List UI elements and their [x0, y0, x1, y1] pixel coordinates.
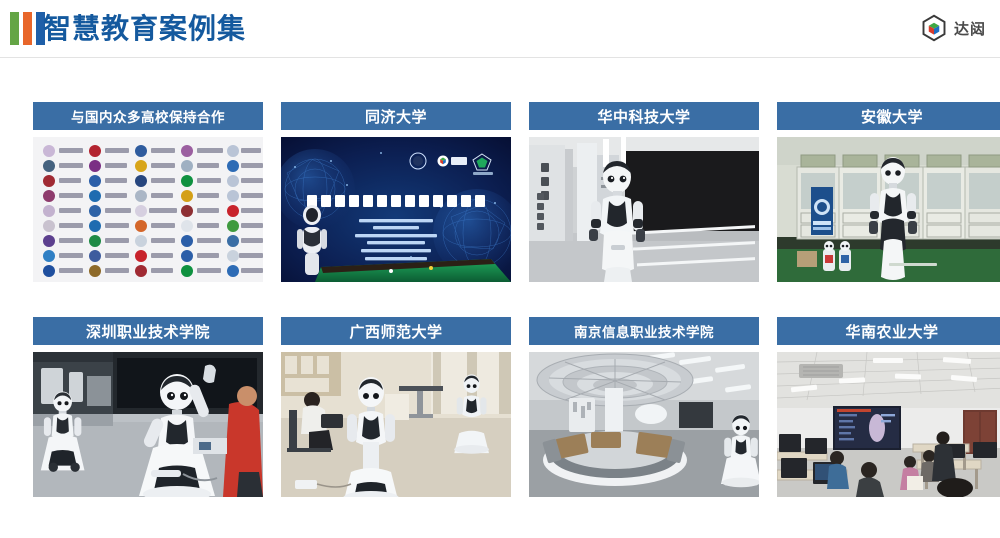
case-card-shenzhen-polytechnic[interactable]: 深圳职业技术学院: [33, 317, 263, 497]
case-card-south-china-agricultural-university[interactable]: 华南农业大学: [777, 317, 1000, 497]
circular-lobby-image: [529, 352, 759, 497]
case-row: 与国内众多高校保持合作: [33, 102, 967, 282]
competition-banner-image: [281, 137, 511, 282]
robot-in-lab-image: [777, 137, 1000, 282]
brand-name: 达闼: [954, 18, 986, 39]
card-title: 同济大学: [281, 102, 511, 130]
card-title: 华南农业大学: [777, 317, 1000, 345]
case-card-anhui-university[interactable]: 安徽大学: [777, 102, 1000, 282]
hexagon-cube-logo-icon: [920, 14, 948, 42]
case-grid: 与国内众多高校保持合作: [33, 102, 967, 497]
green-bar-icon: [10, 12, 19, 45]
two-service-robots-image: [33, 352, 263, 497]
header-divider: [0, 57, 1000, 58]
page-title: 智慧教育案例集: [43, 8, 246, 50]
orange-bar-icon: [23, 12, 32, 45]
case-card-nanjing-vocational-college[interactable]: 南京信息职业技术学院: [529, 317, 759, 497]
university-logo-wall-image: [33, 137, 263, 282]
robot-in-corridor-image: [529, 137, 759, 282]
card-title: 与国内众多高校保持合作: [33, 102, 263, 130]
card-title: 深圳职业技术学院: [33, 317, 263, 345]
slide-page: 智慧教育案例集 达闼 与国内众多高校保持合作: [0, 0, 1000, 538]
card-title: 南京信息职业技术学院: [529, 317, 759, 345]
brand-logo: 达闼: [920, 14, 986, 42]
case-card-huazhong-university[interactable]: 华中科技大学: [529, 102, 759, 282]
card-title: 广西师范大学: [281, 317, 511, 345]
page-header: 智慧教育案例集 达闼: [0, 0, 1000, 58]
robots-in-classroom-lab-image: [281, 352, 511, 497]
card-title: 安徽大学: [777, 102, 1000, 130]
computer-classroom-image: [777, 352, 1000, 497]
card-title: 华中科技大学: [529, 102, 759, 130]
header-accent-marks: [10, 12, 45, 45]
case-card-tongji-university[interactable]: 同济大学: [281, 102, 511, 282]
case-card-university-partners[interactable]: 与国内众多高校保持合作: [33, 102, 263, 282]
case-card-guangxi-normal-university[interactable]: 广西师范大学: [281, 317, 511, 497]
case-row: 深圳职业技术学院: [33, 317, 967, 497]
